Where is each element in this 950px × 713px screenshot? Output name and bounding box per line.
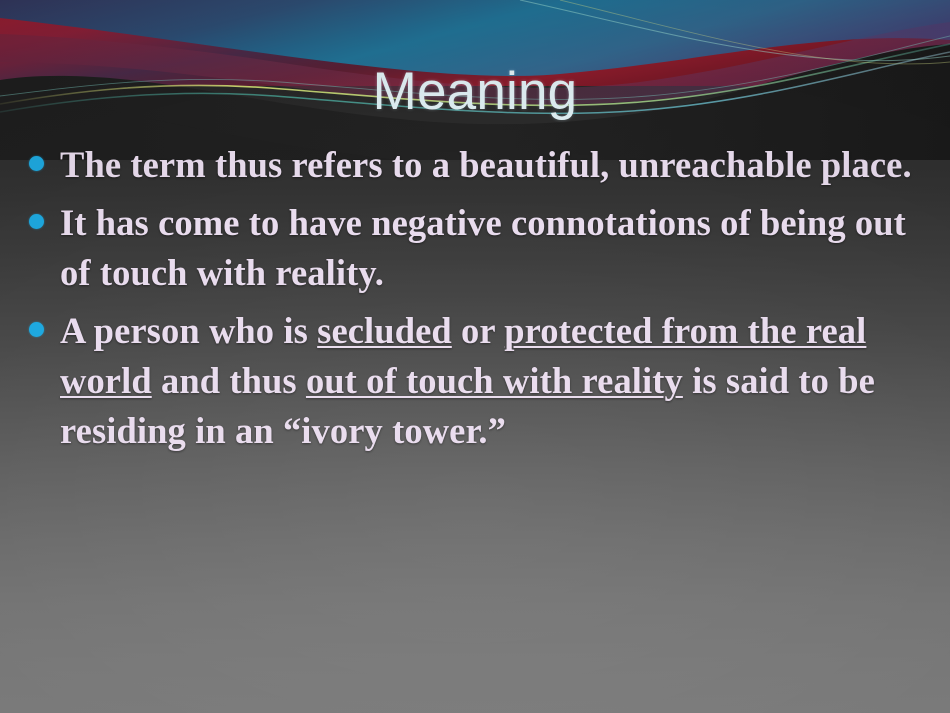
underlined-term-out-of-touch-with-reality: out of touch with reality [306,360,683,401]
text-segment: A person who is [60,310,317,351]
text-segment: and thus [152,360,306,401]
text-segment: or [452,310,504,351]
presentation-slide: Meaning The term thus refers to a beauti… [0,0,950,713]
list-item: A person who is secluded or protected fr… [26,306,926,456]
bullet-text-2: It has come to have negative connotation… [60,198,926,298]
slide-body-content: The term thus refers to a beautiful, unr… [26,140,926,464]
bullet-dot-icon [29,322,44,337]
slide-title: Meaning [0,62,950,122]
bullet-dot-icon [29,214,44,229]
list-item: It has come to have negative connotation… [26,198,926,298]
bullet-text-3: A person who is secluded or protected fr… [60,306,926,456]
bullet-text-1: The term thus refers to a beautiful, unr… [60,140,926,190]
underlined-term-secluded: secluded [317,310,452,351]
list-item: The term thus refers to a beautiful, unr… [26,140,926,190]
bullet-dot-icon [29,156,44,171]
